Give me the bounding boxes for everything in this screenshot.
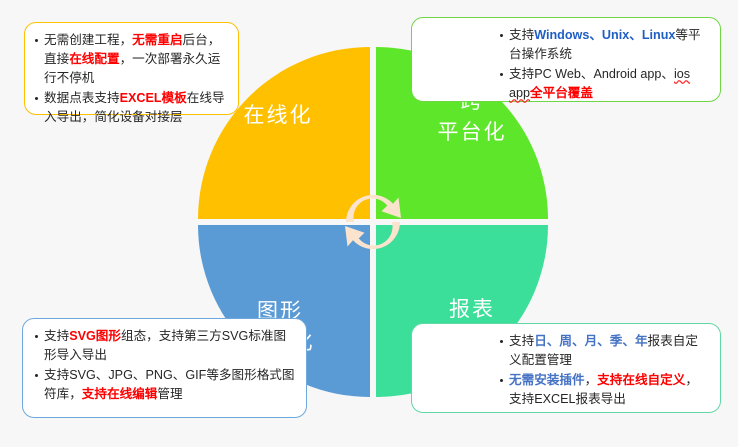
bullet-text-0-1: Windows、Unix、Linux	[534, 28, 675, 42]
list-item: 无需创建工程，无需重启后台，直接在线配置，一次部署永久运行不停机	[33, 31, 228, 88]
list-item: 无需安装插件，支持在线自定义，支持EXCEL报表导出	[498, 371, 710, 409]
list-item: 数据点表支持EXCEL模板在线导入导出，简化设备对接层	[33, 89, 228, 127]
bullet-text-0-0: 支持	[44, 329, 69, 343]
callout-bullet-list: 支持日、周、月、季、年报表自定义配置管理 无需安装插件，支持在线自定义，支持EX…	[498, 332, 710, 409]
bullet-text-1-0: 无需安装插件	[509, 373, 585, 387]
bullet-text-1-2: 支持在线自定义	[597, 373, 685, 387]
bullet-text-1-1: EXCEL模板	[120, 91, 187, 105]
callout-bottom-left: 支持SVG图形组态，支持第三方SVG标准图形导入导出 支持SVG、JPG、PNG…	[22, 318, 307, 418]
bullet-text-1-2: 管理	[157, 387, 182, 401]
quadrant-label-line1: 在线化	[244, 100, 313, 131]
callout-top-right: 支持Windows、Unix、Linux等平台操作系统 支持PC Web、And…	[411, 17, 721, 102]
bullet-text-0-0: 无需创建工程，	[44, 33, 132, 47]
callout-bullet-list: 支持Windows、Unix、Linux等平台操作系统 支持PC Web、And…	[498, 26, 710, 103]
list-item: 支持SVG图形组态，支持第三方SVG标准图形导入导出	[33, 327, 296, 365]
callout-bullet-list: 无需创建工程，无需重启后台，直接在线配置，一次部署永久运行不停机 数据点表支持E…	[33, 31, 228, 127]
bullet-text-1-2: 全平台覆盖	[530, 86, 593, 100]
bullet-text-0-0: 支持	[509, 28, 534, 42]
bullet-text-1-1: 支持在线编辑	[82, 387, 158, 401]
bullet-text-0-1: 日、周、月、季、年	[534, 334, 647, 348]
bullet-text-1-0: 支持PC Web、Android app、	[509, 67, 674, 81]
callout-top-left: 无需创建工程，无需重启后台，直接在线配置，一次部署永久运行不停机 数据点表支持E…	[24, 22, 239, 115]
bullet-text-1-1: ，	[585, 373, 598, 387]
list-item: 支持日、周、月、季、年报表自定义配置管理	[498, 332, 710, 370]
bullet-text-0-3: 在线配置	[69, 52, 119, 66]
diagram-canvas: 在线化 跨 平台化 图形 组态化 报表 自定义化 无需创建工程，无需重启后台，直…	[0, 0, 738, 447]
bullet-text-0-1: SVG图形	[69, 329, 121, 343]
quadrant-label-line2: 平台化	[438, 117, 507, 148]
bullet-text-0-1: 无需重启	[132, 33, 182, 47]
list-item: 支持PC Web、Android app、ios app全平台覆盖	[498, 65, 710, 103]
callout-bottom-right: 支持日、周、月、季、年报表自定义配置管理 无需安装插件，支持在线自定义，支持EX…	[411, 323, 721, 413]
bullet-text-1-0: 数据点表支持	[44, 91, 120, 105]
quadrant-label-line1: 报表	[449, 294, 495, 325]
callout-bullet-list: 支持SVG图形组态，支持第三方SVG标准图形导入导出 支持SVG、JPG、PNG…	[33, 327, 296, 404]
list-item: 支持Windows、Unix、Linux等平台操作系统	[498, 26, 710, 64]
list-item: 支持SVG、JPG、PNG、GIF等多图形格式图符库，支持在线编辑管理	[33, 366, 296, 404]
bullet-text-0-0: 支持	[509, 334, 534, 348]
